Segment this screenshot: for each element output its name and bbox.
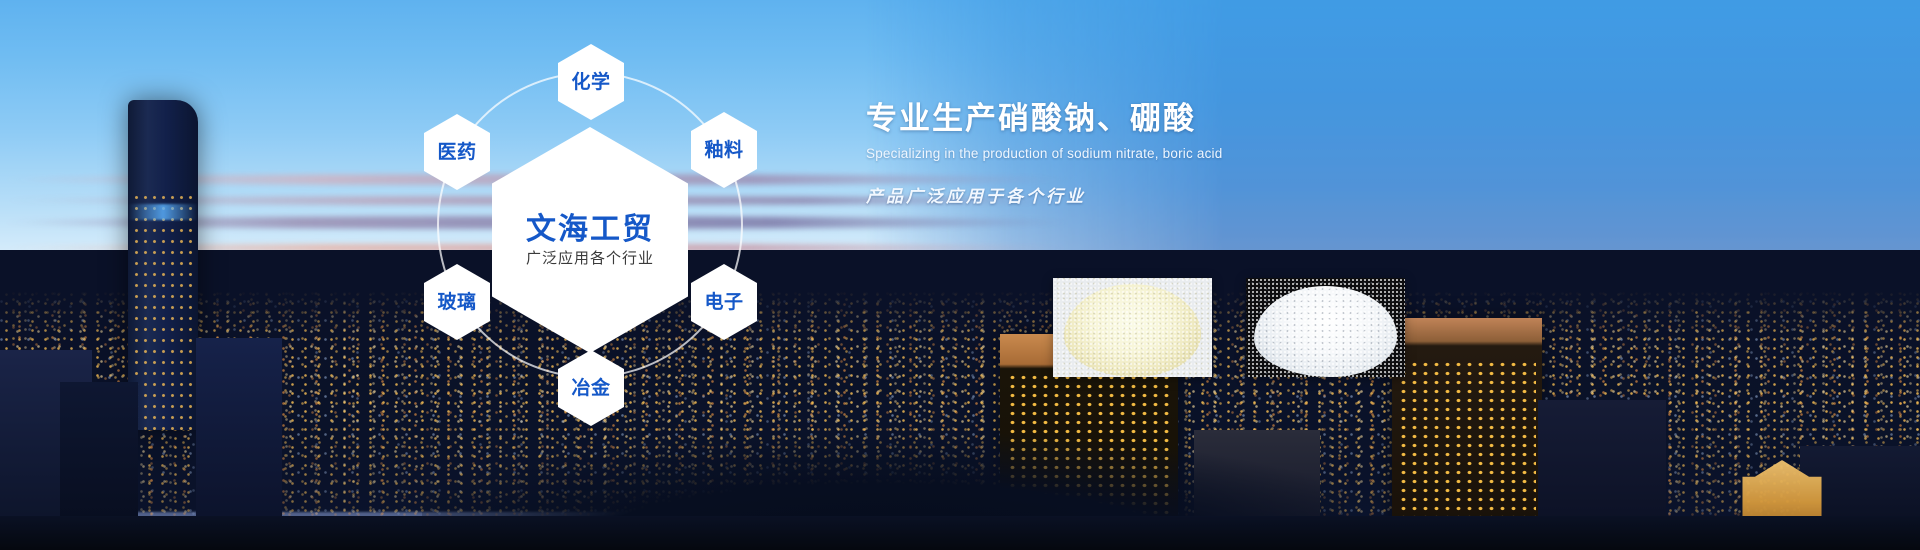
product-photo-sodium-nitrate[interactable] — [1053, 278, 1212, 377]
foreground-rooftop — [0, 516, 1920, 550]
banner-subtitle-english: Specializing in the production of sodium… — [866, 146, 1386, 161]
hex-label-metallurgy: 冶金 — [571, 379, 610, 398]
tower-blue-band — [128, 204, 198, 220]
hex-label-glaze: 釉料 — [704, 141, 743, 160]
product-photo-boric-acid[interactable] — [1246, 278, 1405, 377]
brand-slogan: 广泛应用各个行业 — [526, 251, 654, 266]
hex-label-chemistry: 化学 — [571, 73, 610, 92]
banner-tagline: 产品广泛应用于各个行业 — [866, 182, 1386, 207]
skyscraper-tower-left — [128, 100, 198, 430]
brand-name: 文海工贸 — [526, 215, 654, 245]
powder-grain-texture-cream — [1053, 278, 1212, 377]
hex-label-pharmaceutical: 医药 — [437, 143, 476, 162]
product-photo-group — [1053, 278, 1405, 377]
powder-grain-texture-white — [1246, 278, 1405, 377]
city-skyline — [0, 220, 1920, 550]
banner-copy: 专业生产硝酸钠、硼酸 Specializing in the productio… — [866, 100, 1386, 207]
industry-hex-diagram: 化学 釉料 医药 玻璃 电子 冶金 文海工贸 广泛应用各个行业 — [392, 22, 792, 432]
banner-headline: 专业生产硝酸钠、硼酸 — [866, 100, 1386, 137]
hex-label-glass: 玻璃 — [437, 293, 476, 312]
hero-banner: 化学 釉料 医药 玻璃 电子 冶金 文海工贸 广泛应用各个行业 专业生产硝酸钠、… — [0, 0, 1920, 550]
hex-label-electronics: 电子 — [704, 293, 743, 312]
